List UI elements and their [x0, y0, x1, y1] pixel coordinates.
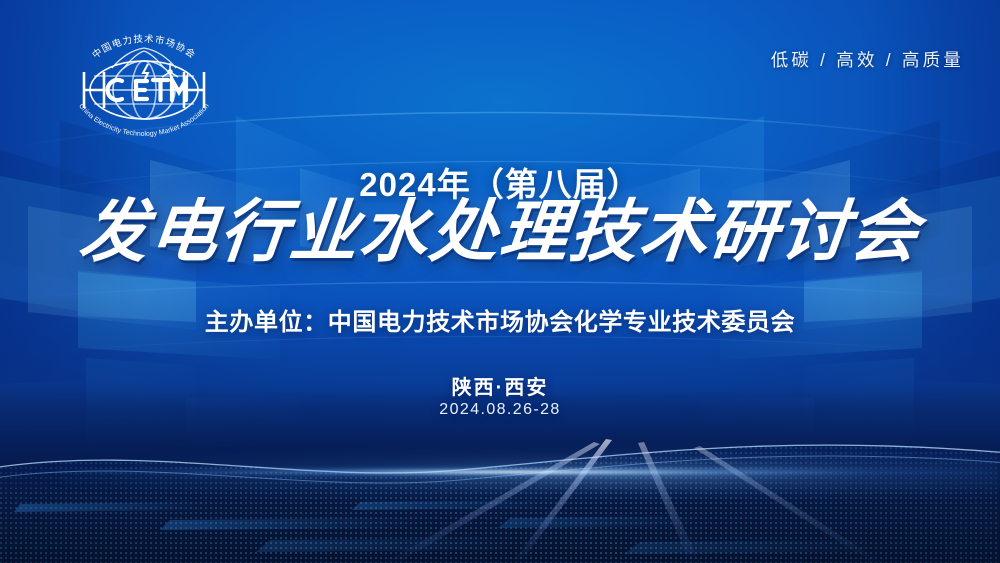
page-title: 发电行业水处理技术研讨会	[0, 196, 1000, 268]
main-content: 2024年（第八届） 发电行业水处理技术研讨会 主办单位：中国电力技术市场协会化…	[0, 0, 1000, 563]
conference-banner: 中国电力技术市场协会 China Electricity Technology …	[0, 0, 1000, 563]
venue-location: 陕西·西安	[0, 371, 1000, 400]
organizer-line: 主办单位：中国电力技术市场协会化学专业技术委员会	[0, 302, 1000, 337]
event-dates: 2024.08.26-28	[0, 401, 1000, 419]
